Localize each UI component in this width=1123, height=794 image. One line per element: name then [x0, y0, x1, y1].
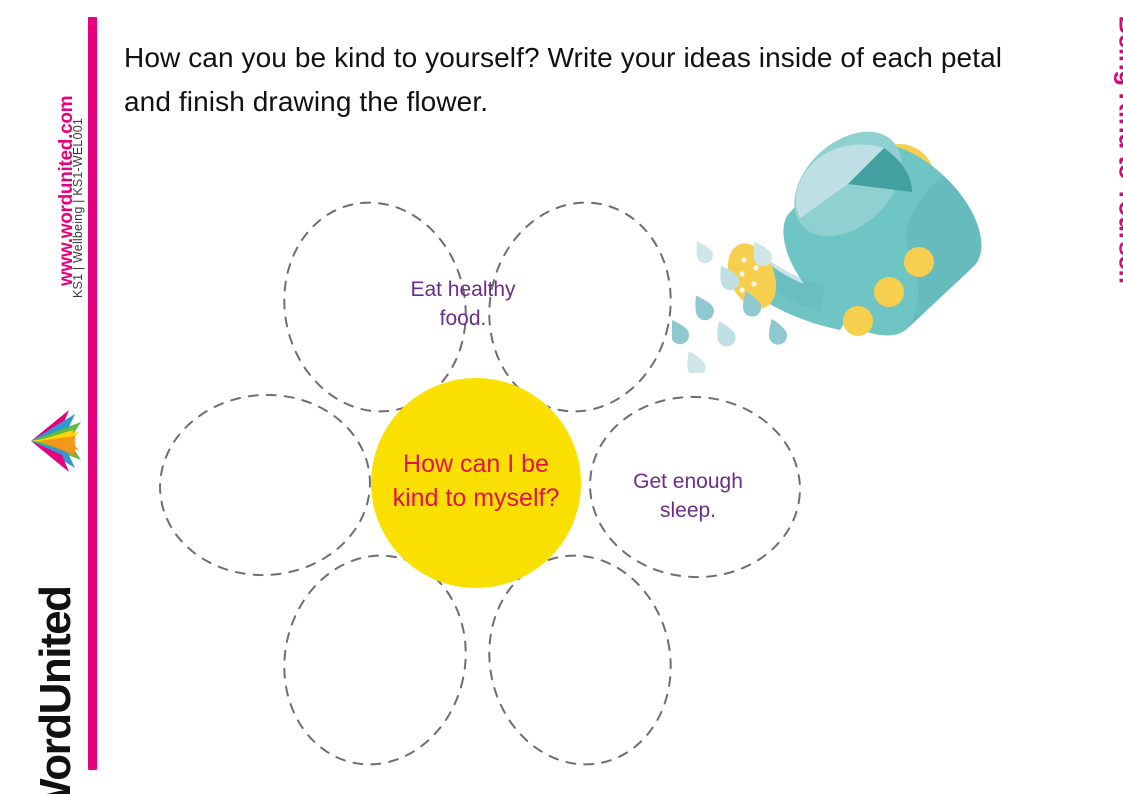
resource-code-label: KS1 | Wellbeing | KS1-WEL001	[71, 38, 85, 298]
left-sidebar: www.wordunited.com KS1 | Wellbeing | KS1…	[0, 0, 118, 794]
wordunited-logo-text: WordUnited	[31, 490, 81, 794]
instructions-text: How can you be kind to yourself? Write y…	[124, 36, 1004, 124]
petal-right-label: Get enough sleep.	[608, 467, 768, 525]
right-sidebar: Being Kind to Yourself	[1023, 0, 1123, 794]
wordunited-fan-logo-icon	[29, 408, 85, 474]
worksheet-page: www.wordunited.com KS1 | Wellbeing | KS1…	[0, 0, 1123, 794]
petal-left-outline[interactable]	[154, 388, 376, 582]
wordunited-logo: WordUnited	[24, 405, 90, 785]
flower-center-label: How can I be kind to myself?	[376, 447, 576, 515]
worksheet-title: Being Kind to Yourself	[1113, 16, 1123, 416]
petal-top-left-label: Eat healthy food.	[393, 275, 533, 333]
watering-can-icon	[672, 118, 1012, 373]
